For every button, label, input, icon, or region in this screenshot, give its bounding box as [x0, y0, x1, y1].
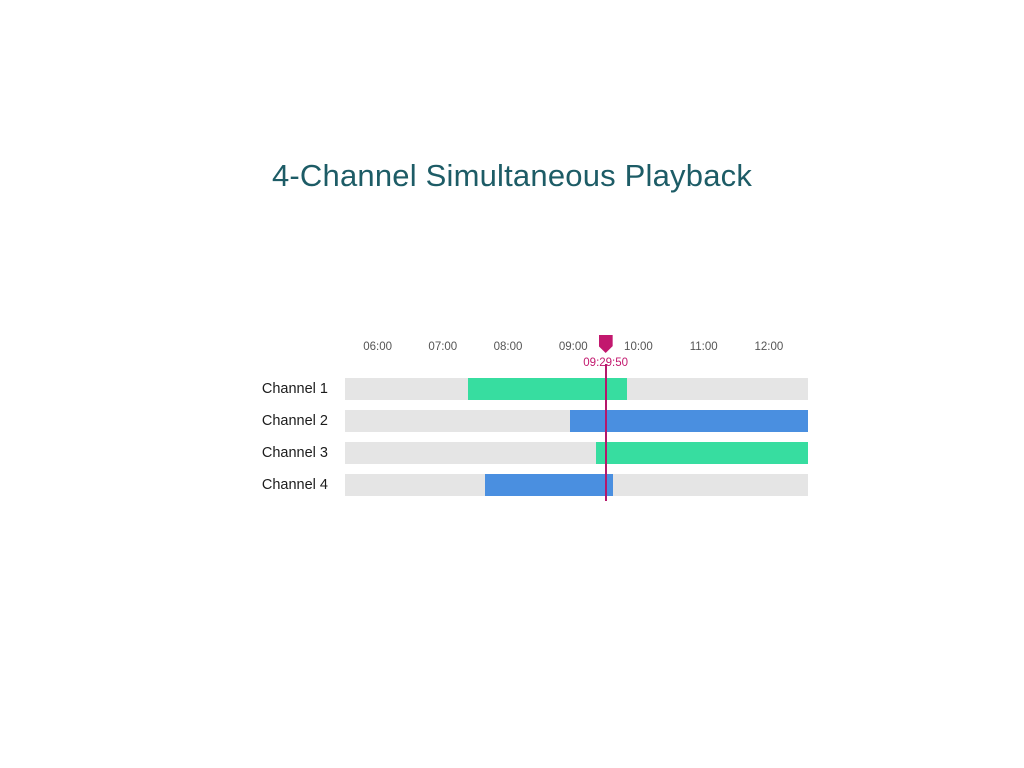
recording-segment[interactable]: [485, 474, 613, 496]
channel-rows: Channel 1Channel 2Channel 3Channel 4: [345, 378, 808, 506]
timeline-chart: 06:0007:0008:0009:0010:0011:0012:00 Chan…: [345, 341, 808, 501]
recording-segment[interactable]: [570, 410, 808, 432]
channel-row[interactable]: Channel 1: [345, 378, 808, 400]
recording-segment[interactable]: [468, 378, 627, 400]
channel-label: Channel 1: [262, 381, 328, 397]
axis-tick-label: 09:00: [559, 341, 588, 353]
axis-tick-label: 06:00: [363, 341, 392, 353]
page-title: 4-Channel Simultaneous Playback: [0, 158, 1024, 194]
axis-tick-label: 11:00: [690, 341, 718, 353]
axis-tick-label: 12:00: [754, 341, 783, 353]
channel-label: Channel 2: [262, 413, 328, 429]
channel-label: Channel 4: [262, 477, 328, 493]
channel-label: Channel 3: [262, 445, 328, 461]
axis-tick-label: 07:00: [428, 341, 457, 353]
channel-row[interactable]: Channel 3: [345, 442, 808, 464]
channel-row[interactable]: Channel 2: [345, 410, 808, 432]
axis-tick-label: 10:00: [624, 341, 653, 353]
channel-row[interactable]: Channel 4: [345, 474, 808, 496]
time-axis: 06:0007:0008:0009:0010:0011:0012:00: [345, 341, 808, 359]
axis-tick-label: 08:00: [494, 341, 523, 353]
recording-segment[interactable]: [596, 442, 808, 464]
playback-timeline-page: 4-Channel Simultaneous Playback 06:0007:…: [0, 0, 1024, 768]
